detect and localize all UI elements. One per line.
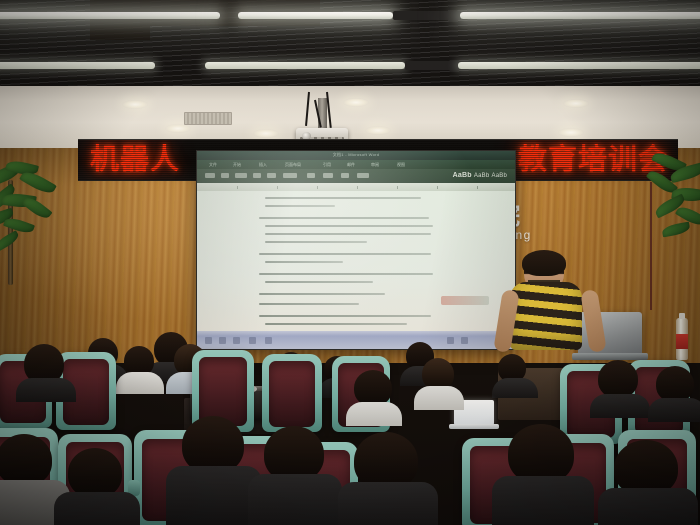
potted-plant-right bbox=[636, 152, 700, 272]
ceiling-vent bbox=[184, 112, 232, 125]
downlight bbox=[365, 126, 391, 135]
document-text-line bbox=[259, 293, 385, 295]
seat[interactable] bbox=[262, 354, 322, 432]
person-shoulders bbox=[346, 402, 402, 426]
audience-member bbox=[500, 424, 584, 525]
word-title-text: 文档1 - Microsoft Word bbox=[333, 152, 380, 158]
document-text-line bbox=[259, 217, 429, 219]
person-shoulders bbox=[54, 492, 140, 525]
person-shoulders bbox=[116, 372, 164, 394]
ribbon-icon[interactable] bbox=[221, 173, 229, 178]
ceiling-strip-light bbox=[0, 12, 220, 19]
word-style-gallery[interactable]: AaBb AaBb AaBb bbox=[453, 172, 507, 179]
ribbon-icon[interactable] bbox=[283, 173, 297, 178]
downlight bbox=[343, 98, 369, 107]
lecture-hall-photo: 院 ering 机器人 教育培训会 文档1 - Microsoft Word 文… bbox=[0, 0, 700, 525]
ribbon-icon[interactable] bbox=[235, 173, 247, 178]
audience-member bbox=[420, 358, 460, 402]
word-title-bar: 文档1 - Microsoft Word bbox=[197, 151, 515, 160]
document-text-line bbox=[265, 197, 421, 199]
document-text-line bbox=[265, 323, 407, 325]
plant-leaf bbox=[661, 222, 690, 238]
bottle-cap bbox=[679, 313, 685, 319]
projected-image: 文档1 - Microsoft Word 文件 开始 插入 页面布局 引用 邮件… bbox=[197, 151, 515, 349]
led-banner-text-left: 机器人 bbox=[90, 142, 180, 178]
word-ruler bbox=[197, 183, 515, 191]
person-shoulders bbox=[16, 378, 76, 402]
ribbon-icon[interactable] bbox=[307, 173, 315, 178]
word-ribbon: AaBb AaBb AaBb bbox=[197, 169, 515, 183]
downlight bbox=[563, 99, 589, 108]
person-shoulders bbox=[492, 378, 538, 398]
ribbon-icon[interactable] bbox=[323, 173, 333, 178]
presenter-hair bbox=[522, 250, 566, 276]
document-text-line bbox=[265, 233, 431, 235]
word-document-page[interactable] bbox=[197, 191, 515, 331]
audience-member bbox=[258, 426, 334, 525]
document-text-line bbox=[265, 281, 373, 283]
plant-leaf bbox=[19, 168, 57, 197]
document-text-line bbox=[265, 241, 367, 243]
audience-area bbox=[0, 330, 700, 525]
person-shoulders bbox=[338, 482, 438, 525]
person-head bbox=[656, 366, 694, 402]
style-0[interactable]: AaBb bbox=[453, 172, 472, 179]
potted-plant-left bbox=[0, 150, 70, 280]
audience-member bbox=[596, 360, 646, 414]
ceiling-strip-light bbox=[458, 62, 700, 69]
document-text-line bbox=[259, 315, 431, 317]
audience-member bbox=[22, 344, 70, 396]
person-head bbox=[68, 448, 122, 498]
ribbon-icon[interactable] bbox=[341, 173, 349, 178]
document-text-line bbox=[259, 303, 359, 305]
ceiling-light-gap bbox=[405, 61, 460, 70]
audience-member bbox=[176, 416, 254, 525]
audience-member bbox=[352, 370, 398, 420]
projection-screen: 文档1 - Microsoft Word 文件 开始 插入 页面布局 引用 邮件… bbox=[196, 150, 516, 350]
plant-leaf bbox=[21, 194, 52, 222]
menu-item-4[interactable]: 引用 bbox=[323, 162, 331, 168]
menu-item-7[interactable]: 视图 bbox=[397, 162, 405, 168]
person-shoulders bbox=[414, 386, 464, 410]
downlight bbox=[558, 128, 584, 137]
person-head bbox=[598, 360, 638, 398]
menu-item-2[interactable]: 插入 bbox=[259, 162, 267, 168]
style-2[interactable]: AaBb bbox=[492, 173, 507, 179]
audience-member bbox=[62, 448, 134, 525]
word-menu-bar: 文件 开始 插入 页面布局 引用 邮件 审阅 视图 bbox=[197, 160, 515, 169]
ceiling-strip-light bbox=[0, 62, 155, 69]
ceiling-strip-light bbox=[238, 12, 393, 19]
person-shoulders bbox=[248, 474, 342, 525]
menu-item-1[interactable]: 开始 bbox=[233, 162, 241, 168]
menu-item-5[interactable]: 邮件 bbox=[347, 162, 355, 168]
menu-item-3[interactable]: 页面布局 bbox=[285, 162, 301, 168]
downlight bbox=[122, 100, 148, 109]
downlight bbox=[253, 129, 279, 138]
document-watermark bbox=[441, 296, 489, 305]
ribbon-icon[interactable] bbox=[205, 173, 215, 178]
person-shoulders bbox=[590, 394, 650, 418]
hanging-cord bbox=[650, 182, 652, 310]
document-text-line bbox=[265, 205, 335, 207]
seat-cushion bbox=[269, 361, 316, 427]
document-text-line bbox=[265, 261, 343, 263]
document-text-line bbox=[259, 253, 431, 255]
ceiling-light-gap bbox=[393, 11, 463, 20]
person-shoulders bbox=[492, 476, 594, 525]
downlight bbox=[165, 124, 191, 133]
style-1[interactable]: AaBb bbox=[474, 173, 489, 179]
person-head bbox=[0, 434, 52, 486]
audience-member bbox=[122, 346, 162, 386]
audience-member bbox=[604, 440, 690, 525]
person-shoulders bbox=[648, 398, 700, 422]
audience-member bbox=[496, 354, 534, 392]
audience-member bbox=[346, 432, 430, 525]
person-head bbox=[508, 424, 574, 484]
ceiling-strip-light bbox=[460, 12, 700, 19]
menu-item-6[interactable]: 审阅 bbox=[371, 162, 379, 168]
document-text-line bbox=[259, 273, 433, 275]
ribbon-icon[interactable] bbox=[267, 173, 276, 178]
ribbon-icon[interactable] bbox=[357, 173, 369, 178]
menu-item-0[interactable]: 文件 bbox=[209, 162, 217, 168]
person-head bbox=[354, 370, 392, 406]
audience-member bbox=[654, 366, 700, 418]
ribbon-icon[interactable] bbox=[253, 173, 261, 178]
document-text-line bbox=[265, 225, 433, 227]
person-shoulders bbox=[598, 488, 698, 525]
ceiling-strip-light bbox=[205, 62, 405, 69]
